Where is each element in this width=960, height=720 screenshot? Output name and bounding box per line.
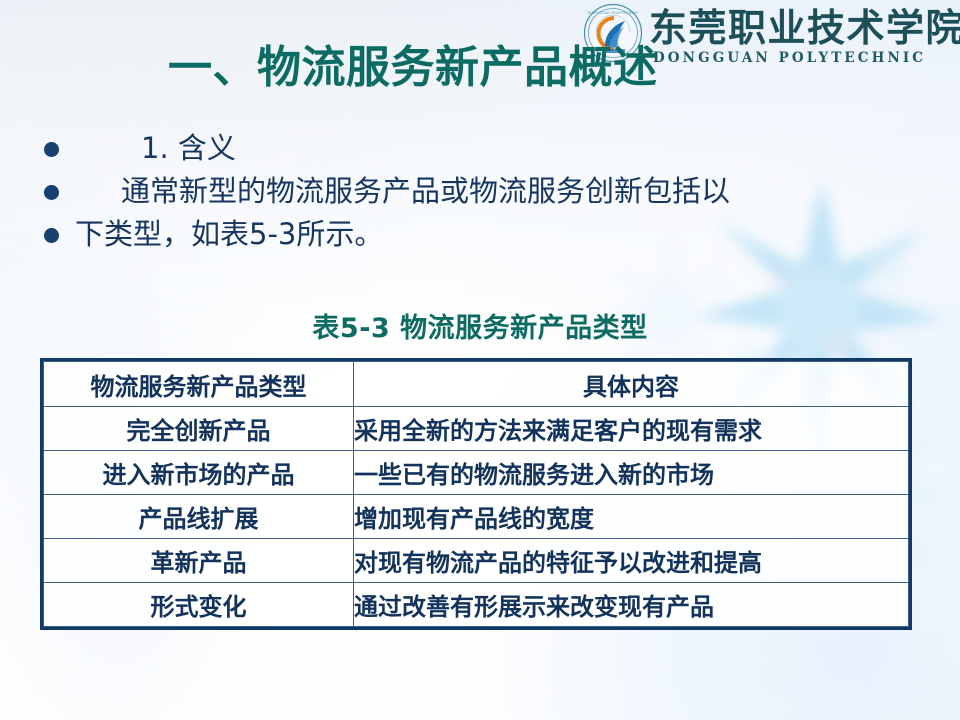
- bullet-dot-icon: [44, 185, 59, 200]
- svg-text:DONGGUAN POLYTECHNIC: DONGGUAN POLYTECHNIC: [587, 11, 639, 15]
- table-cell-detail: 一些已有的物流服务进入新的市场: [354, 451, 909, 495]
- table-row: 进入新市场的产品 一些已有的物流服务进入新的市场: [44, 451, 909, 495]
- university-chinese-name: 东莞职业技术学院: [649, 6, 960, 50]
- table-row: 产品线扩展 增加现有产品线的宽度: [44, 495, 909, 539]
- table-cell-detail: 增加现有产品线的宽度: [354, 495, 909, 539]
- table-cell-type: 完全创新产品: [44, 407, 354, 451]
- table-row: 形式变化 通过改善有形展示来改变现有产品: [44, 583, 909, 627]
- university-english-name: DONGGUAN POLYTECHNIC: [653, 50, 926, 66]
- table-cell-type: 产品线扩展: [44, 495, 354, 539]
- list-item: 下类型，如表5-3所示。: [44, 216, 924, 253]
- body-bullet-list: 1. 含义 通常新型的物流服务产品或物流服务创新包括以 下类型，如表5-3所示。: [44, 130, 924, 259]
- presentation-slide: DONGGUAN POLYTECHNIC 东莞职业技术学院 DONGGUAN P…: [0, 0, 960, 720]
- table-cell-detail: 对现有物流产品的特征予以改进和提高: [354, 539, 909, 583]
- list-item: 1. 含义: [44, 130, 924, 167]
- product-type-table: 物流服务新产品类型 具体内容 完全创新产品 采用全新的方法来满足客户的现有需求 …: [40, 358, 912, 630]
- university-logo-text: 东莞职业技术学院 DONGGUAN POLYTECHNIC: [647, 2, 960, 70]
- table-cell-type: 进入新市场的产品: [44, 451, 354, 495]
- table-caption: 表5-3 物流服务新产品类型: [0, 306, 960, 345]
- bullet-dot-icon: [44, 228, 59, 243]
- table-header-cell-type: 物流服务新产品类型: [44, 362, 354, 407]
- table-cell-detail: 通过改善有形展示来改变现有产品: [354, 583, 909, 627]
- table-row: 革新产品 对现有物流产品的特征予以改进和提高: [44, 539, 909, 583]
- table-cell-detail: 采用全新的方法来满足客户的现有需求: [354, 407, 909, 451]
- bullet-dot-icon: [44, 142, 59, 157]
- table-cell-type: 革新产品: [44, 539, 354, 583]
- table-header-row: 物流服务新产品类型 具体内容: [44, 362, 909, 407]
- page-title: 一、物流服务新产品概述: [168, 44, 658, 92]
- list-item-label: 1. 含义: [141, 130, 236, 167]
- university-chinese-name-icon: 东莞职业技术学院: [649, 2, 960, 52]
- table-cell-type: 形式变化: [44, 583, 354, 627]
- table-header-cell-detail: 具体内容: [354, 362, 909, 407]
- list-item-label: 通常新型的物流服务产品或物流服务创新包括以: [121, 173, 730, 210]
- list-item: 通常新型的物流服务产品或物流服务创新包括以: [44, 173, 924, 210]
- list-item-label: 下类型，如表5-3所示。: [75, 216, 383, 253]
- table-row: 完全创新产品 采用全新的方法来满足客户的现有需求: [44, 407, 909, 451]
